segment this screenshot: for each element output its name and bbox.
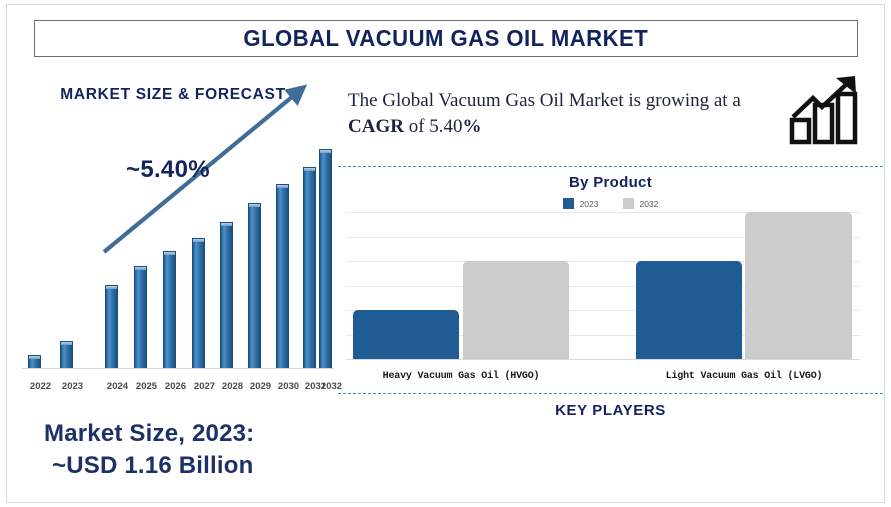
forecast-bar-2028 (220, 222, 233, 368)
by-product-chart: Heavy Vacuum Gas Oil (HVGO) Light Vacuum… (338, 212, 883, 382)
divider-top (338, 166, 883, 167)
by-product-panel: The Global Vacuum Gas Oil Market is grow… (338, 62, 883, 442)
market-size-callout: Market Size, 2023: ~USD 1.16 Billion (44, 418, 344, 482)
market-size-forecast-chart: 2022 2023 2024 2025 2026 2027 2028 2029 … (8, 62, 338, 392)
by-product-baseline (346, 359, 860, 360)
legend-item-2023[interactable]: 2023 (563, 198, 599, 209)
by-product-bar-lvgo-2032 (745, 212, 852, 359)
title-box: GLOBAL VACUUM GAS OIL MARKET (34, 20, 858, 57)
by-product-legend: 2023 2032 (338, 198, 883, 209)
cagr-statement-bold2: % (463, 116, 482, 137)
forecast-bar-2026 (163, 251, 176, 368)
legend-label-2023: 2023 (580, 199, 599, 209)
infographic-page: GLOBAL VACUUM GAS OIL MARKET MARKET SIZE… (0, 0, 891, 507)
by-product-category-label-hvgo: Heavy Vacuum Gas Oil (HVGO) (346, 371, 576, 382)
by-product-bar-hvgo-2032 (463, 261, 569, 359)
by-product-title: By Product (338, 174, 883, 191)
forecast-bar-2025 (134, 266, 147, 368)
cagr-statement: The Global Vacuum Gas Oil Market is grow… (348, 88, 788, 140)
key-players-heading: KEY PLAYERS (338, 402, 883, 419)
by-product-bar-hvgo-2023 (353, 310, 459, 359)
by-product-bar-lvgo-2023 (636, 261, 742, 359)
cagr-statement-part1: The Global Vacuum Gas Oil Market is grow… (348, 90, 741, 111)
forecast-bar-2023 (60, 341, 73, 368)
market-size-forecast-panel: MARKET SIZE & FORECAST 2022 2023 2024 20… (8, 62, 338, 392)
forecast-year-label: 2022 (24, 381, 58, 392)
growth-arrow-bars-icon (788, 72, 868, 148)
forecast-bar-2032 (319, 149, 332, 368)
forecast-bar-2024 (105, 285, 118, 368)
legend-item-2032[interactable]: 2032 (623, 198, 659, 209)
forecast-cagr-annotation: ~5.40% (126, 156, 210, 184)
forecast-bar-2031 (303, 167, 316, 368)
legend-label-2032: 2032 (640, 199, 659, 209)
forecast-bar-2027 (192, 238, 205, 368)
forecast-year-label: 2023 (56, 381, 90, 392)
market-size-label: Market Size, 2023: (44, 420, 254, 447)
cagr-statement-part2: of 5.40 (404, 116, 463, 137)
forecast-bar-2022 (28, 355, 41, 368)
cagr-statement-bold1: CAGR (348, 116, 404, 137)
divider-bottom (338, 393, 883, 394)
by-product-category-label-lvgo: Light Vacuum Gas Oil (LVGO) (629, 371, 859, 382)
legend-swatch-2023 (563, 198, 574, 209)
forecast-axis-line (22, 368, 334, 369)
market-size-value: ~USD 1.16 Billion (44, 450, 344, 482)
page-title: GLOBAL VACUUM GAS OIL MARKET (244, 25, 649, 52)
forecast-bar-2030 (276, 184, 289, 368)
legend-swatch-2032 (623, 198, 634, 209)
forecast-bar-2029 (248, 203, 261, 368)
